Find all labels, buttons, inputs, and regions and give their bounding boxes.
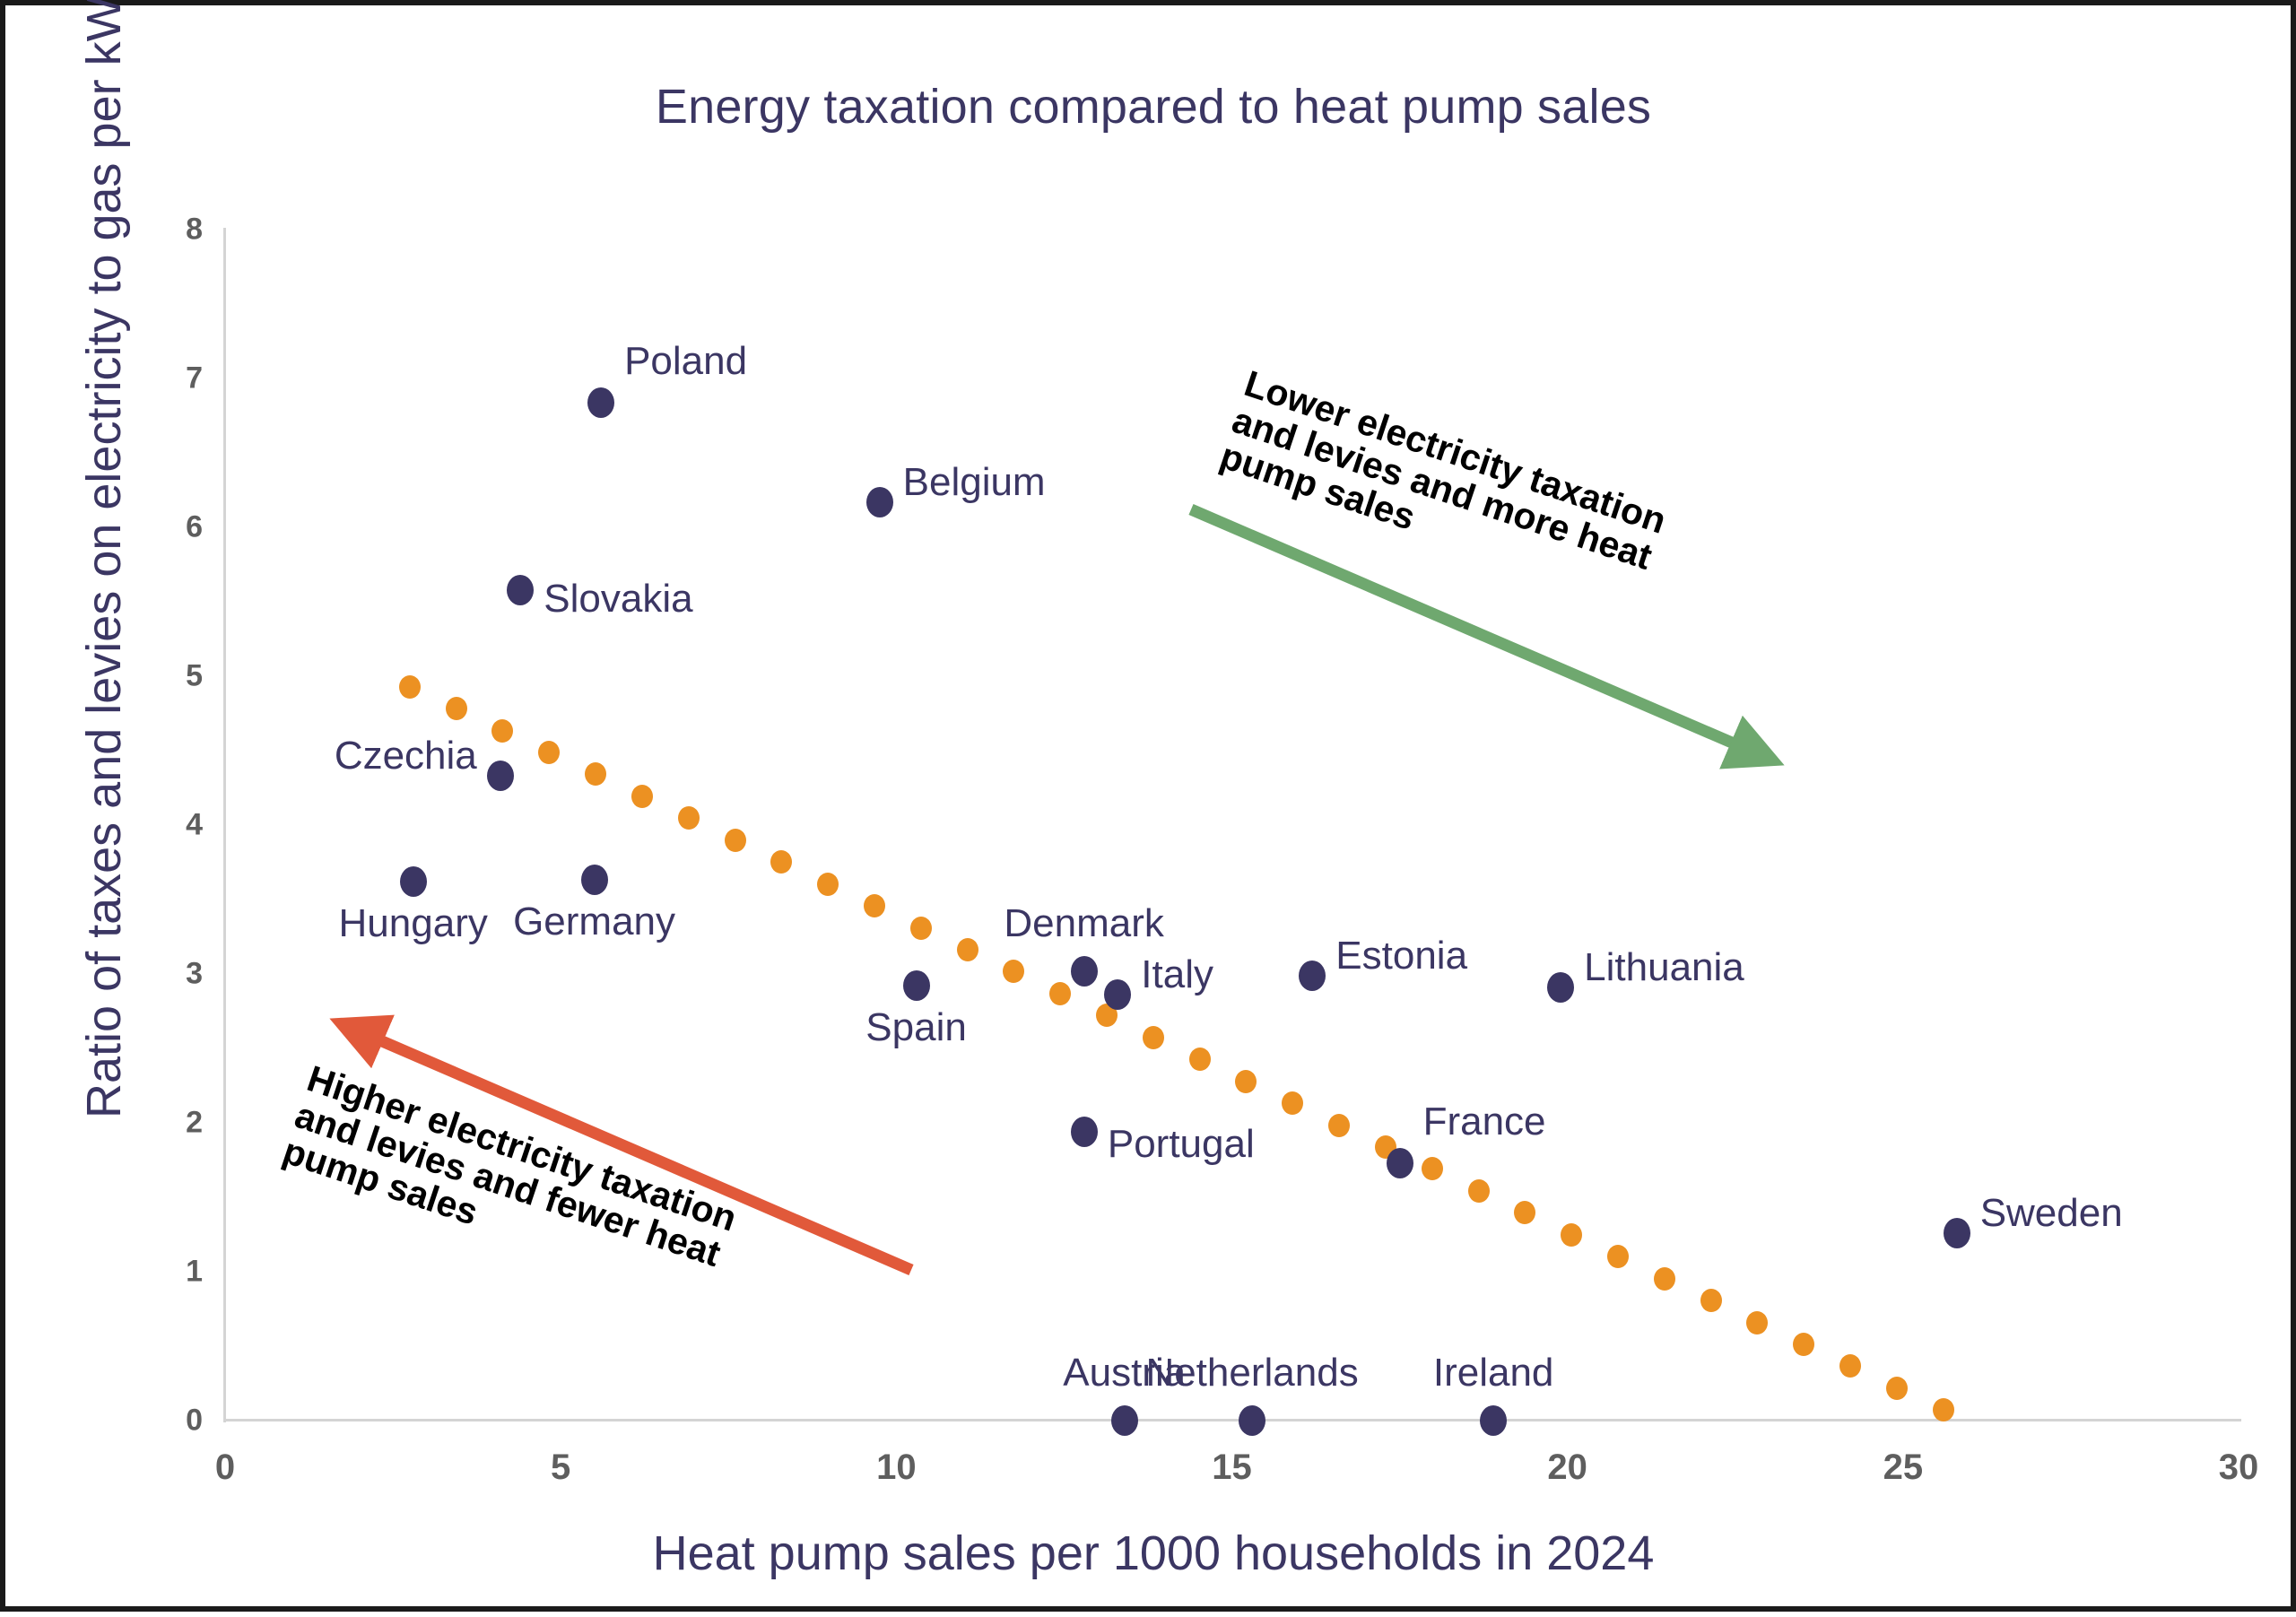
y-tick-label: 0 xyxy=(95,1404,203,1439)
chart-frame: Energy taxation compared to heat pump sa… xyxy=(0,0,2296,1612)
data-point-estonia[interactable] xyxy=(1299,961,1326,991)
trendline-dot xyxy=(1886,1377,1908,1400)
data-point-austria[interactable] xyxy=(1111,1405,1138,1436)
trendline-dot xyxy=(725,829,746,852)
trendline-dot xyxy=(446,697,467,720)
trendline-dot xyxy=(491,719,513,743)
trendline-dot xyxy=(538,741,560,764)
trendline-dot xyxy=(1933,1398,1954,1421)
point-label-portugal: Portugal xyxy=(1108,1122,1255,1167)
trendline-dot xyxy=(1561,1223,1582,1247)
trendline-dot xyxy=(399,675,421,699)
y-tick-label: 6 xyxy=(95,510,203,545)
trendline-dot xyxy=(1189,1048,1211,1071)
point-label-germany: Germany xyxy=(513,900,675,944)
data-point-poland[interactable] xyxy=(587,387,614,418)
point-label-belgium: Belgium xyxy=(903,460,1046,505)
trendline-dot xyxy=(1143,1026,1164,1049)
trendline-dot xyxy=(1468,1179,1490,1203)
trendline-dot xyxy=(1049,982,1071,1005)
x-tick-label: 15 xyxy=(1161,1447,1304,1488)
data-point-sweden[interactable] xyxy=(1944,1218,1970,1248)
trendline-dot xyxy=(1003,960,1024,983)
point-label-slovakia: Slovakia xyxy=(544,577,692,622)
point-label-sweden: Sweden xyxy=(1980,1191,2123,1236)
x-tick-label: 5 xyxy=(489,1447,632,1488)
scatter-chart: Energy taxation compared to heat pump sa… xyxy=(5,5,2296,1617)
trendline-dot xyxy=(1700,1289,1722,1312)
data-point-czechia[interactable] xyxy=(487,761,514,791)
y-tick-label: 7 xyxy=(95,361,203,396)
trendline-dot xyxy=(678,806,700,830)
trendline-dot xyxy=(957,938,978,961)
data-point-denmark[interactable] xyxy=(1071,956,1098,987)
data-point-spain[interactable] xyxy=(903,970,930,1001)
data-point-ireland[interactable] xyxy=(1480,1405,1507,1436)
trendline-dot xyxy=(864,894,885,917)
trendline-dot xyxy=(1793,1333,1814,1356)
y-tick-label: 4 xyxy=(95,808,203,843)
y-axis-line xyxy=(223,228,226,1422)
point-label-estonia: Estonia xyxy=(1335,934,1467,978)
trendline-dot xyxy=(1422,1157,1443,1180)
trendline-dot xyxy=(1654,1267,1675,1291)
trendline-dot xyxy=(770,850,792,874)
trendline-dot xyxy=(1607,1245,1629,1268)
y-tick-label: 2 xyxy=(95,1106,203,1141)
point-label-poland: Poland xyxy=(624,339,747,384)
data-point-france[interactable] xyxy=(1387,1148,1413,1178)
point-label-czechia: Czechia xyxy=(335,734,477,778)
trendline-dot xyxy=(1235,1070,1257,1093)
trendline-dot xyxy=(1746,1311,1768,1334)
data-point-belgium[interactable] xyxy=(866,487,893,517)
point-label-denmark: Denmark xyxy=(1004,901,1164,946)
trendline-dot xyxy=(1328,1114,1350,1137)
point-label-lithuania: Lithuania xyxy=(1584,945,1744,990)
chart-title: Energy taxation compared to heat pump sa… xyxy=(5,79,2296,135)
data-point-hungary[interactable] xyxy=(400,866,427,897)
point-label-hungary: Hungary xyxy=(339,901,488,946)
y-tick-label: 3 xyxy=(95,957,203,992)
trendline-dot xyxy=(631,785,653,808)
x-tick-label: 25 xyxy=(1831,1447,1975,1488)
x-tick-label: 10 xyxy=(824,1447,968,1488)
y-tick-label: 1 xyxy=(95,1255,203,1290)
annotation-green-text: Lower electricity taxation and levies an… xyxy=(1215,364,1670,613)
trendline-dot xyxy=(1282,1091,1303,1115)
point-label-italy: Italy xyxy=(1141,952,1213,997)
data-point-lithuania[interactable] xyxy=(1547,972,1574,1003)
x-axis-title: Heat pump sales per 1000 households in 2… xyxy=(5,1526,2296,1581)
x-tick-label: 0 xyxy=(153,1447,297,1488)
point-label-france: France xyxy=(1423,1100,1546,1144)
data-point-italy[interactable] xyxy=(1104,979,1131,1010)
trendline-dot xyxy=(1839,1354,1861,1378)
trendline-dot xyxy=(910,917,932,940)
trendline-dot xyxy=(585,762,606,786)
data-point-germany[interactable] xyxy=(581,865,608,895)
point-label-spain: Spain xyxy=(865,1005,967,1050)
x-tick-label: 30 xyxy=(2167,1447,2296,1488)
y-tick-label: 8 xyxy=(95,213,203,248)
trendline-dot xyxy=(1514,1201,1535,1224)
point-label-netherlands: Netherlands xyxy=(1145,1351,1358,1395)
point-label-ireland: Ireland xyxy=(1433,1351,1554,1395)
data-point-portugal[interactable] xyxy=(1071,1117,1098,1147)
trendline-dot xyxy=(817,873,839,896)
y-tick-label: 5 xyxy=(95,659,203,694)
x-tick-label: 20 xyxy=(1496,1447,1639,1488)
data-point-netherlands[interactable] xyxy=(1239,1405,1265,1436)
annotation-red-text: Higher electricity taxation and levies a… xyxy=(278,1059,741,1310)
data-point-slovakia[interactable] xyxy=(507,575,534,605)
